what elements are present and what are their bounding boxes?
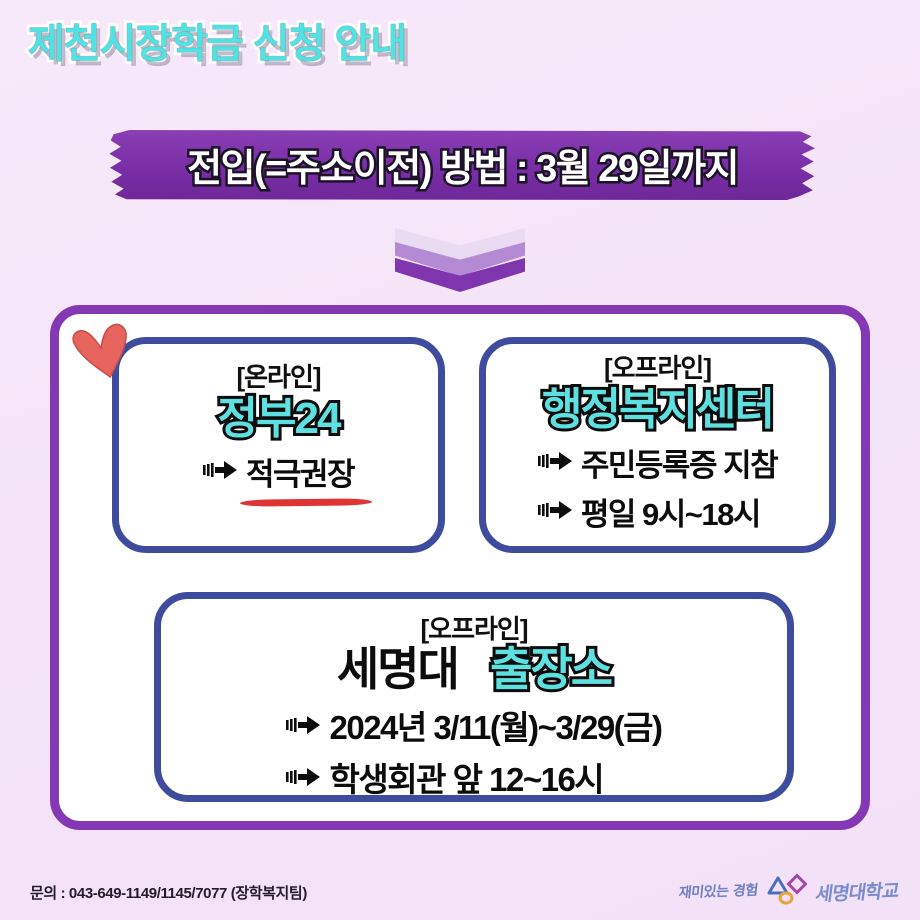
list-item-label: 평일 9시~18시 <box>581 489 760 534</box>
list-item: 주민등록증 지참 <box>538 440 777 485</box>
methods-container: [온라인] 정부24 적극권장 <box>50 305 870 830</box>
subtitle-banner: 전입(=주소이전) 방법 : 3월 29일까지 <box>105 130 820 200</box>
list-item: 학생회관 앞 12~16시 <box>286 753 661 801</box>
card-online-tag: [온라인] <box>236 363 320 392</box>
red-underline <box>240 498 372 506</box>
list-item-label: 2024년 3/11(월)~3/29(금) <box>329 701 661 749</box>
brand-logo: 재미있는 경험 세명대학교 <box>679 870 898 912</box>
arrow-right-icon <box>538 444 572 480</box>
card-bottom-headline-plain: 세명대 <box>337 643 458 695</box>
banner-label: 전입(=주소이전) 방법 : 3월 29일까지 <box>105 130 820 200</box>
list-item: 2024년 3/11(월)~3/29(금) <box>286 701 661 749</box>
brand-slogan: 재미있는 경험 <box>678 880 759 903</box>
brand-mark-icon <box>767 872 807 911</box>
card-bottom-tag: [오프라인] <box>421 615 528 644</box>
list-item-label: 학생회관 앞 12~16시 <box>329 753 603 801</box>
poster-canvas: 제천시장학금 신청 안내 제천시장학금 신청 안내 전입(=주소이전) 방법 :… <box>0 0 920 920</box>
list-item: 적극권장 <box>203 449 354 494</box>
arrow-right-icon <box>203 453 237 489</box>
chevron-down-icon <box>395 228 525 294</box>
list-item-text: 적극권장 <box>246 457 354 492</box>
arrow-right-icon <box>286 758 320 796</box>
card-bottom-headline-accent: 출장소 <box>490 643 611 695</box>
card-offline-campus-office: [오프라인] 세명대 출장소 <box>154 592 794 802</box>
arrow-right-icon <box>286 706 320 744</box>
card-online-bullets: 적극권장 <box>203 449 354 494</box>
arrow-right-icon <box>538 493 572 529</box>
card-bottom-bullets: 2024년 3/11(월)~3/29(금) 학생회관 앞 12~16시 <box>286 701 661 801</box>
list-item: 평일 9시~18시 <box>538 489 777 534</box>
list-item-label: 적극권장 <box>246 449 354 494</box>
list-item-label: 주민등록증 지참 <box>581 440 777 485</box>
card-online-government24: [온라인] 정부24 적극권장 <box>112 337 445 553</box>
card-bottom-headline: 세명대 출장소 <box>337 644 611 696</box>
card-center-tag: [오프라인] <box>604 354 711 383</box>
card-center-headline: 행정복지센터 <box>542 385 773 434</box>
card-center-bullets: 주민등록증 지참 평일 9시~18시 <box>538 440 777 534</box>
page-title: 제천시장학금 신청 안내 제천시장학금 신청 안내 <box>28 14 448 76</box>
contact-note: 문의 : 043-649-1149/1145/7077 (장학복지팀) <box>30 882 307 903</box>
brand-name: 세명대학교 <box>814 876 901 907</box>
card-offline-community-center: [오프라인] 행정복지센터 주민등록증 지참 <box>479 337 836 553</box>
card-online-headline: 정부24 <box>218 394 340 443</box>
page-title-text: 제천시장학금 신청 안내 <box>28 14 448 74</box>
